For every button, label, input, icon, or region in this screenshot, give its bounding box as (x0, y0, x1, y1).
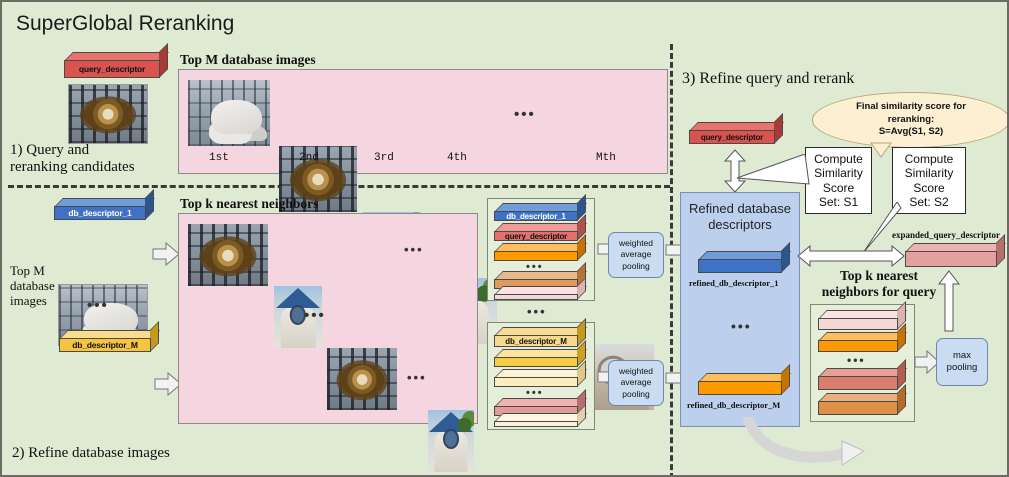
cube-qk-brown[interactable] (818, 393, 906, 415)
cube-db-descriptor-M[interactable]: db_descriptor_M (59, 330, 159, 352)
top-k-for-query-stack: ••• (810, 304, 915, 422)
cube-stackM-cream2[interactable] (494, 413, 586, 427)
top-m-images-panel: ••• 1st 2nd 3rd 4th Mth (178, 69, 668, 174)
neighbor-r1-c4 (428, 410, 474, 472)
cube-stack1-orange[interactable] (494, 243, 586, 261)
cube-qk-orange[interactable] (818, 332, 906, 352)
ellipsis-refined: ••• (731, 318, 752, 334)
cube-stackM-dbM[interactable]: db_descriptor_M (494, 327, 586, 347)
cube-query-descriptor-1[interactable]: query_descriptor (64, 52, 168, 78)
rank-label-M: Mth (596, 152, 616, 164)
expanded-query-descriptor-label: expanded_query_descriptor (892, 230, 1000, 240)
section-3-label: 3) Refine query and rerank (682, 70, 854, 88)
cube-query-descriptor-2[interactable]: query_descriptor (689, 122, 783, 144)
cube-expanded-query-descriptor[interactable] (905, 243, 1005, 267)
op-label: weighted average pooling (619, 366, 653, 399)
cube-stack1-pink[interactable] (494, 286, 586, 300)
cube-stack1-db1[interactable]: db_descriptor_1 (494, 203, 586, 221)
arrow-db1-to-neighbors (152, 240, 180, 268)
compute-s1-text: Compute Similarity Score Set: S1 (814, 152, 863, 209)
neighbor-r1-c1 (188, 224, 268, 286)
max-pooling-box[interactable]: max pooling (936, 338, 988, 386)
op-label: weighted average pooling (619, 238, 653, 271)
ellipsis-top-m: ••• (514, 106, 536, 123)
ellipsis-row1: ••• (404, 242, 424, 257)
cube-stack1-query[interactable]: query_descriptor (494, 223, 586, 241)
compute-s2-text: Compute Similarity Score Set: S2 (905, 152, 954, 209)
ellipsis-qk: ••• (847, 353, 866, 367)
ellipsis-between-stacks: ••• (527, 304, 547, 319)
ellipse-tail (870, 142, 892, 158)
query-image (68, 84, 148, 144)
cube-stackM-cream[interactable] (494, 369, 586, 387)
cube-label: query_descriptor (701, 133, 763, 142)
cube-refined-db-M[interactable] (698, 373, 790, 395)
connector-s1 (735, 154, 810, 194)
cube-label: db_descriptor_1 (506, 212, 565, 221)
ellipsis-rows: ••• (304, 307, 326, 324)
weighted-average-pooling-1[interactable]: weighted average pooling (608, 232, 664, 278)
refined-db-1-label: refined_db_descriptor_1 (689, 278, 779, 288)
cube-side-face (159, 43, 168, 78)
cube-refined-db-1[interactable] (698, 251, 790, 273)
descriptor-stack-1: db_descriptor_1 query_descriptor ••• (487, 198, 595, 301)
top-k-neighbors-panel: ••• ••• ••• (178, 213, 478, 424)
compute-similarity-s2-box[interactable]: Compute Similarity Score Set: S2 (892, 147, 966, 214)
cube-label: db_descriptor_1 (68, 208, 131, 218)
top-k-neighbors-title: Top k nearest neighbors (180, 196, 318, 212)
curved-arrow-refined-to-topk (742, 417, 882, 469)
cube-stackM-yellow[interactable] (494, 349, 586, 367)
cube-label: db_descriptor_M (505, 337, 566, 346)
descriptor-stack-M: db_descriptor_M ••• (487, 322, 595, 430)
op-label: max pooling (947, 350, 978, 375)
cube-db-descriptor-1[interactable]: db_descriptor_1 (54, 198, 154, 220)
top-m-db-images-label: Top M database images (10, 264, 55, 309)
neighbor-r1-c3 (327, 348, 397, 410)
diagram-canvas: SuperGlobal Reranking 1) Query and reran… (0, 0, 1009, 477)
cube-qk-salmon[interactable] (818, 368, 906, 390)
final-score-ellipse: Final similarity score for reranking: S=… (812, 92, 1009, 148)
top-m-images-title: Top M database images (180, 52, 316, 68)
refined-db-title: Refined database descriptors (681, 201, 799, 234)
rank-label-1: 1st (209, 152, 229, 164)
refined-db-M-label: refined_db_descriptor_M (687, 400, 780, 410)
ellipsis-row2: ••• (407, 370, 427, 385)
section-1-label: 1) Query and reranking candidates (10, 142, 135, 177)
cube-qk-pink[interactable] (818, 310, 906, 330)
cube-label: db_descriptor_M (72, 340, 138, 350)
top-k-for-query-title: Top k nearest neighbors for query (814, 268, 944, 300)
rank-label-4: 4th (447, 152, 467, 164)
rank-label-2: 2nd (299, 152, 319, 164)
arrow-refined-expanded-bidirectional (797, 245, 905, 267)
thumb-1st (188, 80, 270, 146)
cube-label: query_descriptor (79, 64, 145, 74)
refined-db-descriptors-panel: Refined database descriptors refined_db_… (680, 192, 800, 427)
rank-label-3: 3rd (374, 152, 394, 164)
weighted-average-pooling-M[interactable]: weighted average pooling (608, 360, 664, 406)
section-2-label: 2) Refine database images (12, 445, 170, 462)
cube-label: query_descriptor (505, 232, 567, 241)
page-title: SuperGlobal Reranking (16, 12, 234, 36)
ellipsis-db-images: ••• (87, 297, 109, 314)
final-score-text: Final similarity score for reranking: S=… (856, 101, 966, 139)
